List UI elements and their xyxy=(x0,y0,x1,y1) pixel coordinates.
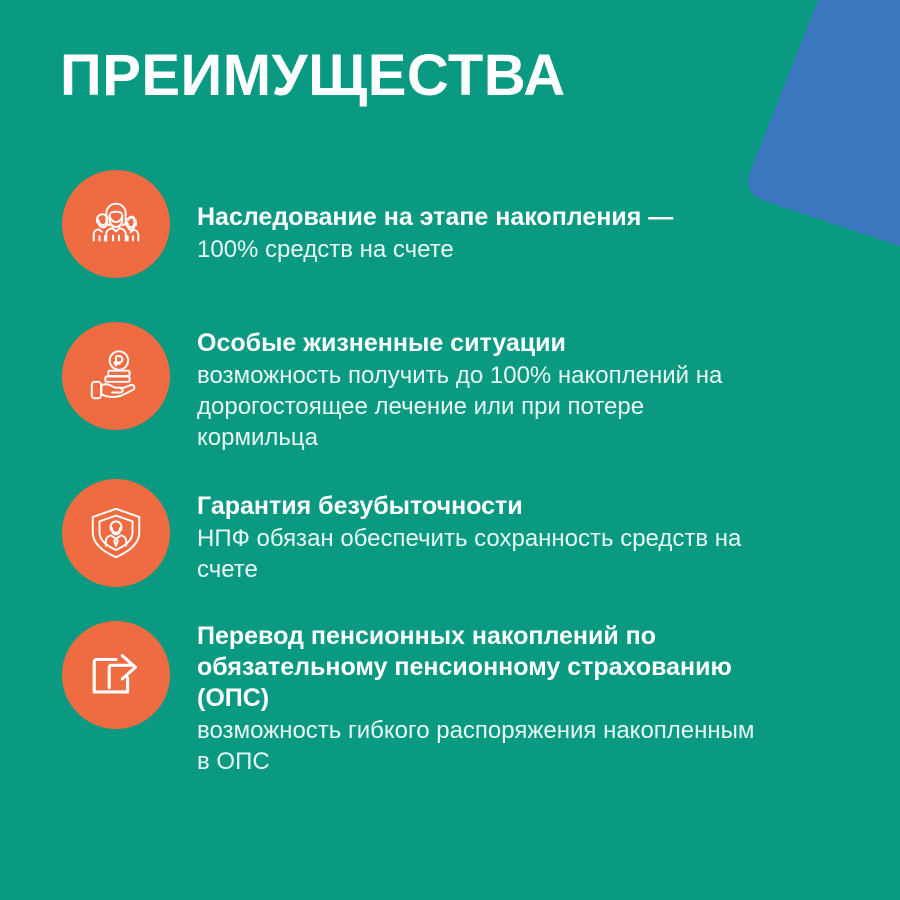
shield-with-person-icon xyxy=(85,502,147,564)
benefit-title: Наследование на этапе накопления — xyxy=(197,202,757,233)
benefit-description: возможность получить до 100% накоплений … xyxy=(197,360,757,453)
benefit-text-block: Наследование на этапе накопления — 100% … xyxy=(170,170,757,265)
benefit-title: Гарантия безубыточности xyxy=(197,491,757,522)
benefit-description: 100% средств на счете xyxy=(197,234,757,265)
benefit-item-inheritance: Наследование на этапе накопления — 100% … xyxy=(0,170,900,278)
benefit-icon-circle xyxy=(62,621,170,729)
benefit-title: Особые жизненные ситуации xyxy=(197,328,757,359)
slide-root: ПРЕИМУЩЕСТВА xyxy=(0,0,900,900)
benefit-description: НПФ обязан обеспечить сохранность средст… xyxy=(197,523,757,585)
family-icon xyxy=(85,193,147,255)
benefit-text-block: Гарантия безубыточности НПФ обязан обесп… xyxy=(170,479,757,585)
page-title: ПРЕИМУЩЕСТВА xyxy=(60,44,566,108)
benefit-list: Наследование на этапе накопления — 100% … xyxy=(0,170,900,777)
benefit-title: Перевод пенсионных накоплений по обязате… xyxy=(197,621,757,714)
share-arrow-out-icon xyxy=(85,644,147,706)
benefit-icon-circle xyxy=(62,170,170,278)
benefit-item-guarantee: Гарантия безубыточности НПФ обязан обесп… xyxy=(0,479,900,587)
benefit-icon-circle xyxy=(62,322,170,430)
benefit-text-block: Особые жизненные ситуации возможность по… xyxy=(170,322,757,453)
benefit-item-special-situations: Особые жизненные ситуации возможность по… xyxy=(0,322,900,453)
benefit-text-block: Перевод пенсионных накоплений по обязате… xyxy=(170,621,757,777)
hand-with-coins-ruble-icon xyxy=(85,345,147,407)
benefit-item-ops-transfer: Перевод пенсионных накоплений по обязате… xyxy=(0,621,900,777)
benefit-description: возможность гибкого распоряжения накопле… xyxy=(197,715,757,777)
benefit-icon-circle xyxy=(62,479,170,587)
